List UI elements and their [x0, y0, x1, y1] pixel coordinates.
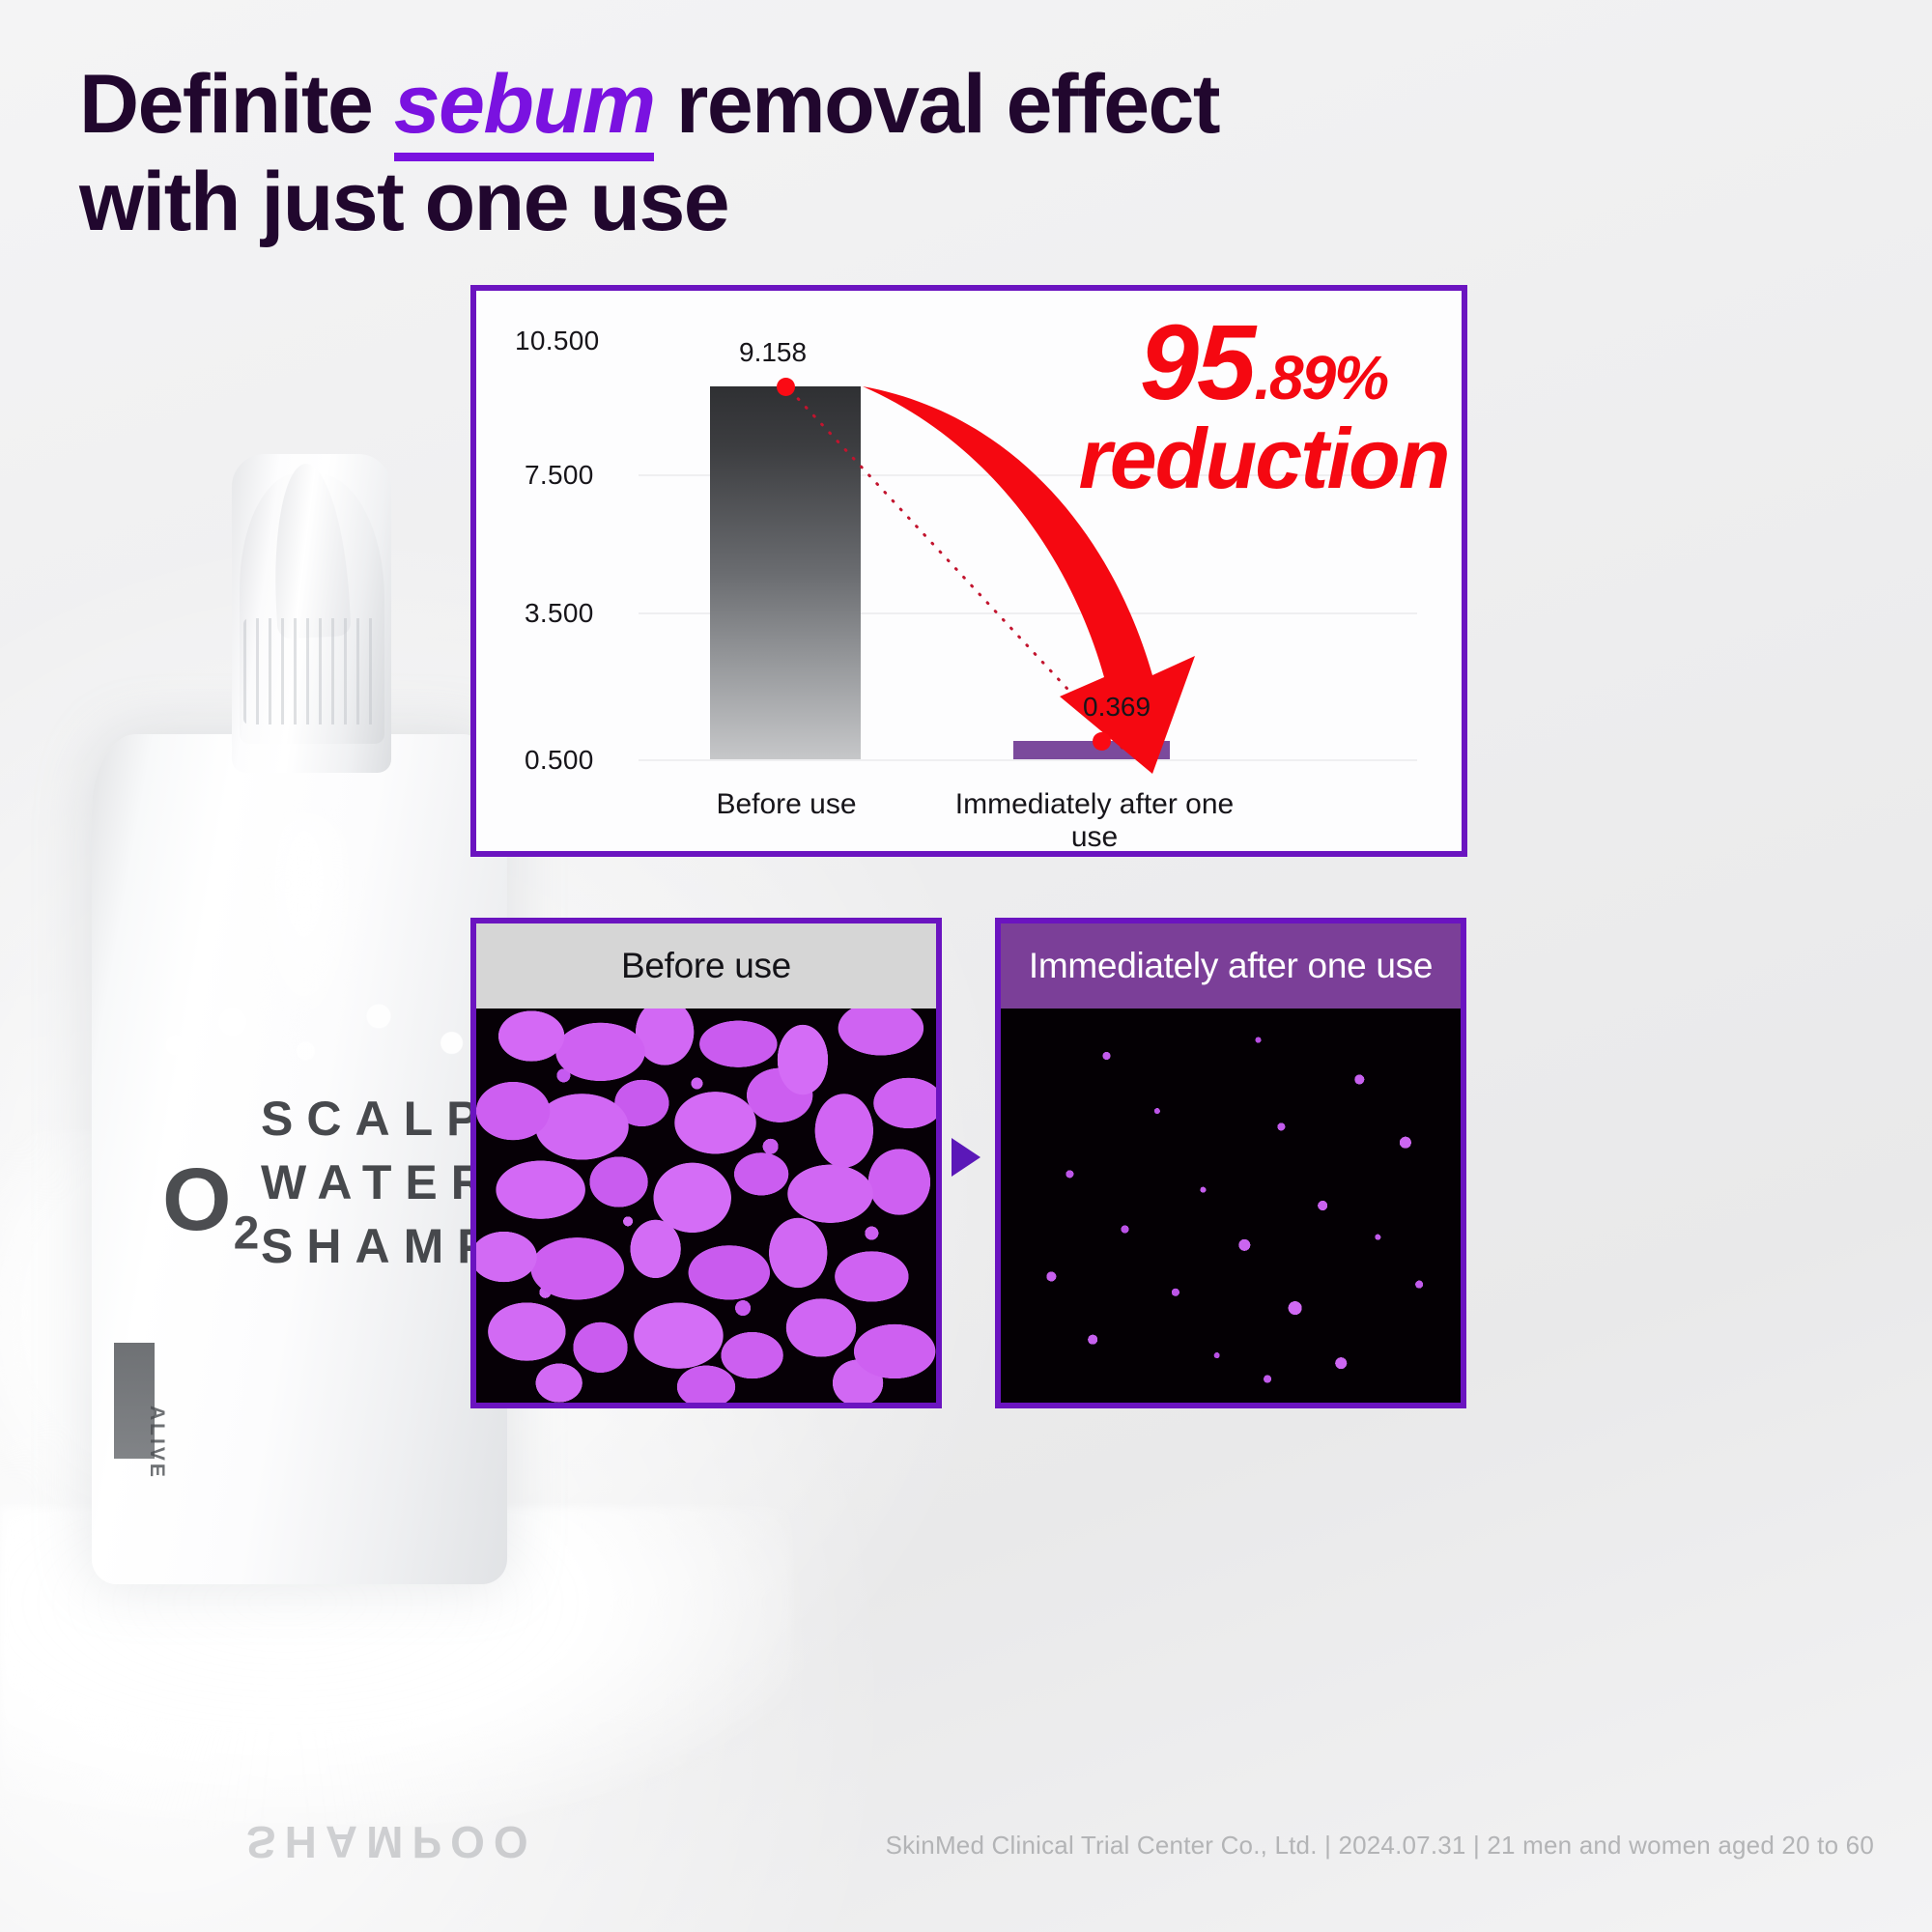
- reduction-word: reduction: [1075, 418, 1452, 499]
- headline-line-2: with just one use: [79, 156, 728, 248]
- play-triangle-right-icon: [952, 1138, 980, 1177]
- gridline-0500: [639, 759, 1417, 761]
- sebum-image-after: [1001, 1009, 1461, 1403]
- footer-disclaimer: SkinMed Clinical Trial Center Co., Ltd. …: [0, 1831, 1874, 1861]
- bar-before-use: [710, 386, 861, 759]
- panel-after-header: Immediately after one use: [1001, 923, 1461, 1009]
- x-axis-label-before: Before use: [709, 788, 864, 821]
- y-tick-label-0500: 0.500: [525, 745, 594, 776]
- data-label-before: 9.158: [739, 337, 807, 368]
- data-point-marker-before: [777, 378, 795, 396]
- bar-after-one-use: [1013, 741, 1170, 759]
- reduction-value-minor: .89%: [1254, 343, 1387, 412]
- y-tick-label-3500: 3.500: [525, 598, 594, 629]
- data-point-marker-after: [1093, 732, 1111, 751]
- y-tick-label-10500: 10.500: [515, 326, 599, 356]
- data-label-after: 0.369: [1083, 692, 1151, 723]
- product-o2-mark: O2: [162, 1150, 261, 1260]
- sebum-chart-card: 10.500 7.500 3.500 0.500 9.158 0.369 Bef…: [470, 285, 1467, 857]
- o2-subscript: 2: [234, 1207, 262, 1259]
- page-title: Definite sebum removal effect with just …: [79, 56, 1528, 250]
- bottle-cap-ribs: [243, 618, 381, 724]
- panel-after-use: Immediately after one use: [995, 918, 1466, 1408]
- panel-before-use: Before use: [470, 918, 942, 1408]
- y-tick-label-7500: 7.500: [525, 460, 594, 491]
- x-axis-label-after: Immediately after one use: [930, 788, 1259, 854]
- headline-part-1: Definite: [79, 58, 394, 151]
- headline-part-2: removal effect: [654, 58, 1219, 151]
- panel-before-header: Before use: [476, 923, 936, 1009]
- bottle-brand-text: ALIVE: [145, 1406, 168, 1480]
- sebum-image-before: [476, 1009, 936, 1403]
- headline-highlight-sebum: sebum: [394, 58, 655, 161]
- reduction-callout: 95.89% reduction: [1075, 312, 1452, 499]
- reduction-value-major: 95: [1140, 303, 1254, 422]
